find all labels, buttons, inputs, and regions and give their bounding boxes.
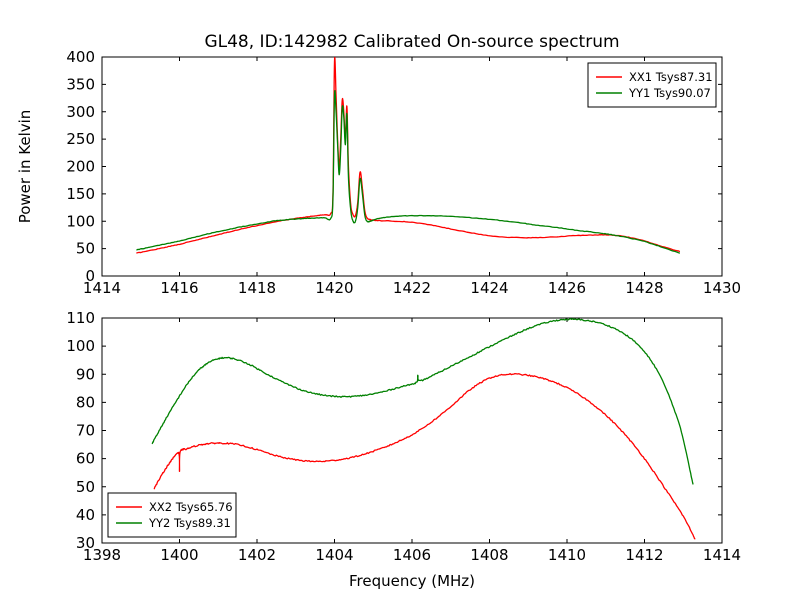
x-tick-label: 1402: [238, 546, 276, 564]
panel-bottom: 1398140014021404140614081410141214143040…: [66, 309, 741, 590]
legend-top: XX1 Tsys87.31YY1 Tsys90.07: [588, 63, 716, 107]
x-tick-label: 1420: [315, 279, 353, 297]
y-tick-label: 90: [76, 365, 95, 383]
legend-label: YY2 Tsys89.31: [148, 516, 231, 530]
y-tick-label: 50: [76, 478, 95, 496]
x-tick-label: 1422: [393, 279, 431, 297]
y-tick-label: 300: [66, 103, 95, 121]
figure-title: GL48, ID:142982 Calibrated On-source spe…: [204, 32, 619, 52]
spectrum-figure: GL48, ID:142982 Calibrated On-source spe…: [0, 0, 800, 600]
trace-top-1: [137, 91, 680, 253]
x-tick-label: 1404: [315, 546, 353, 564]
x-tick-label: 1418: [238, 279, 276, 297]
x-tick-label: 1414: [703, 546, 741, 564]
y-tick-label: 110: [66, 309, 95, 327]
y-tick-label: 0: [85, 267, 95, 285]
y-tick-label: 80: [76, 393, 95, 411]
y-tick-label: 100: [66, 212, 95, 230]
y-tick-label: 350: [66, 75, 95, 93]
y-tick-label: 100: [66, 337, 95, 355]
plot-canvas: GL48, ID:142982 Calibrated On-source spe…: [0, 0, 800, 600]
x-axis-label: Frequency (MHz): [349, 572, 475, 590]
y-tick-label: 400: [66, 48, 95, 66]
y-tick-label: 250: [66, 130, 95, 148]
x-tick-label: 1416: [160, 279, 198, 297]
x-tick-label: 1408: [470, 546, 508, 564]
y-tick-label: 40: [76, 506, 95, 524]
legend-label: XX2 Tsys65.76: [149, 500, 233, 514]
legend-label: YY1 Tsys90.07: [628, 86, 711, 100]
y-tick-label: 30: [76, 534, 95, 552]
x-tick-label: 1430: [703, 279, 741, 297]
x-tick-label: 1424: [470, 279, 508, 297]
panel-top: 1414141614181420142214241426142814300501…: [16, 48, 741, 297]
y-tick-label: 60: [76, 450, 95, 468]
y-tick-label: 200: [66, 158, 95, 176]
legend-bottom: XX2 Tsys65.76YY2 Tsys89.31: [108, 493, 236, 537]
x-tick-label: 1428: [625, 279, 663, 297]
x-tick-label: 1412: [625, 546, 663, 564]
y-tick-label: 150: [66, 185, 95, 203]
x-tick-label: 1410: [548, 546, 586, 564]
y-tick-label: 70: [76, 422, 95, 440]
y-tick-label: 50: [76, 240, 95, 258]
y-axis-label: Power in Kelvin: [16, 110, 34, 224]
legend-label: XX1 Tsys87.31: [629, 70, 713, 84]
trace-bottom-1: [152, 319, 693, 484]
x-tick-label: 1426: [548, 279, 586, 297]
x-tick-label: 1406: [393, 546, 431, 564]
x-tick-label: 1400: [160, 546, 198, 564]
